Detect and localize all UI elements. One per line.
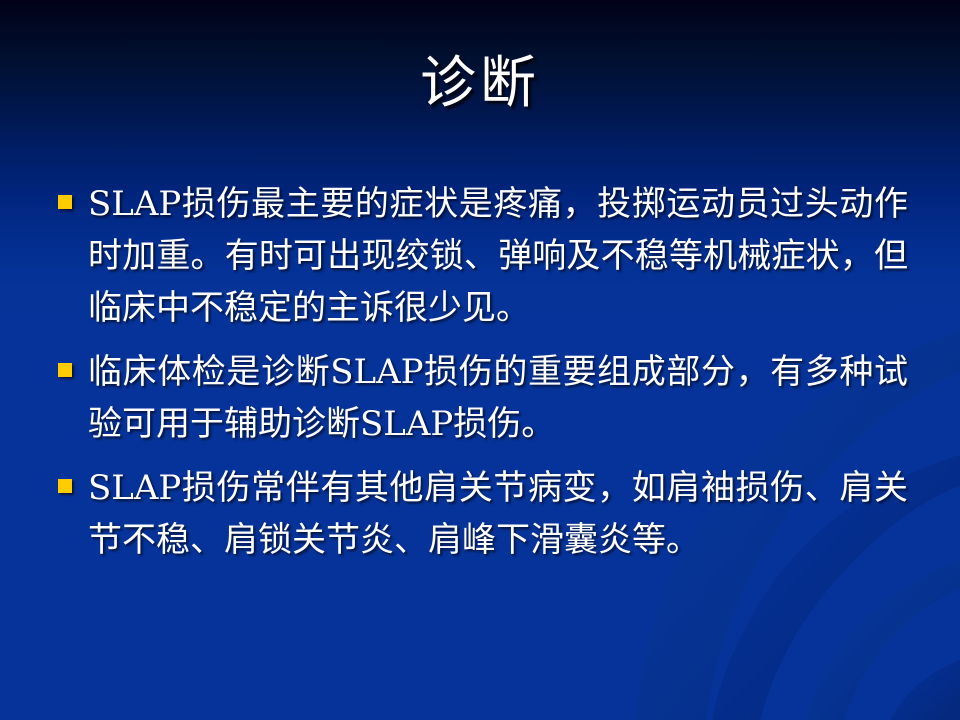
square-bullet-icon: [58, 195, 72, 209]
page-title: 诊断: [420, 52, 540, 116]
square-bullet-icon: [58, 363, 72, 377]
list-item: SLAP损伤最主要的症状是疼痛，投掷运动员过头动作时加重。有时可出现绞锁、弹响及…: [52, 178, 908, 334]
bullet-text: SLAP损伤常伴有其他肩关节病变，如肩袖损伤、肩关节不稳、肩锁关节炎、肩峰下滑囊…: [88, 462, 908, 566]
bullet-text: 临床体检是诊断SLAP损伤的重要组成部分，有多种试验可用于辅助诊断SLAP损伤。: [88, 346, 908, 450]
list-item: SLAP损伤常伴有其他肩关节病变，如肩袖损伤、肩关节不稳、肩锁关节炎、肩峰下滑囊…: [52, 462, 908, 566]
bullet-text: SLAP损伤最主要的症状是疼痛，投掷运动员过头动作时加重。有时可出现绞锁、弹响及…: [88, 178, 908, 334]
list-item: 临床体检是诊断SLAP损伤的重要组成部分，有多种试验可用于辅助诊断SLAP损伤。: [52, 346, 908, 450]
square-bullet-icon: [58, 479, 72, 493]
presentation-slide: 诊断 SLAP损伤最主要的症状是疼痛，投掷运动员过头动作时加重。有时可出现绞锁、…: [0, 0, 960, 720]
slide-title-area: 诊断: [0, 52, 960, 116]
slide-body-content: SLAP损伤最主要的症状是疼痛，投掷运动员过头动作时加重。有时可出现绞锁、弹响及…: [52, 178, 908, 578]
